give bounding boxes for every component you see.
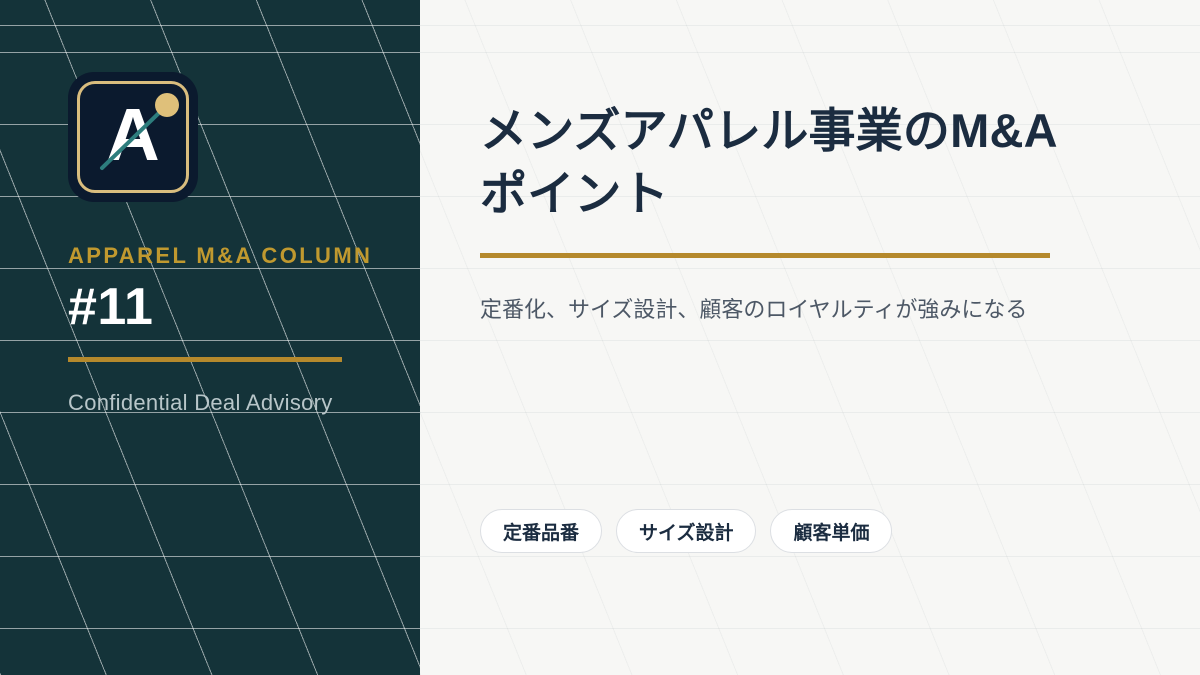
tag-list: 定番品番 サイズ設計 顧客単価 [480, 509, 1110, 553]
brand-logo: A [68, 72, 198, 202]
column-eyebrow-label: APPAREL M&A COLUMN [68, 244, 420, 268]
headline-gold-divider [480, 253, 1050, 258]
page-subtitle: 定番化、サイズ設計、顧客のロイヤルティが強みになる [480, 292, 1110, 329]
layout-spacer [480, 329, 1110, 509]
tag-pill[interactable]: サイズ設計 [616, 509, 756, 553]
advisory-tagline: Confidential Deal Advisory [68, 390, 420, 416]
cover-slide: A APPAREL M&A COLUMN #11 Confidential De… [0, 0, 1200, 675]
issue-number: #11 [68, 280, 420, 335]
logo-growth-line-icon [68, 72, 198, 202]
tag-pill[interactable]: 定番品番 [480, 509, 602, 553]
left-brand-panel: A APPAREL M&A COLUMN #11 Confidential De… [0, 0, 420, 675]
left-panel-content: A APPAREL M&A COLUMN #11 Confidential De… [0, 0, 420, 416]
page-title: メンズアパレル事業のM&Aポイント [480, 100, 1090, 225]
right-panel-content: メンズアパレル事業のM&Aポイント 定番化、サイズ設計、顧客のロイヤルティが強み… [420, 0, 1200, 675]
left-gold-divider [68, 357, 342, 362]
tag-pill[interactable]: 顧客単価 [770, 509, 892, 553]
right-content-panel: メンズアパレル事業のM&Aポイント 定番化、サイズ設計、顧客のロイヤルティが強み… [420, 0, 1200, 675]
